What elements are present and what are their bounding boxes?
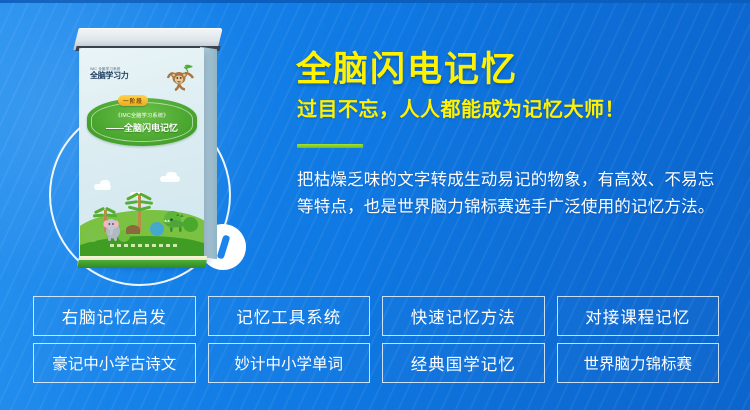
feature-tag[interactable]: 经典国学记忆 (382, 343, 545, 383)
brand-logo-text: 全脑学习力 (90, 72, 129, 80)
stage-label-pill: 一阶段 (118, 95, 148, 106)
feature-tag[interactable]: 妙计中小学单词 (208, 343, 371, 383)
bush-icon (126, 225, 140, 234)
cover-title-line: ——全脑闪电记忆 (80, 121, 204, 134)
promo-banner: IMC 全脑学习系统 全脑学习力 (0, 0, 750, 410)
box-front-cover: IMC 全脑学习系统 全脑学习力 (80, 48, 204, 262)
feature-tag[interactable]: 记忆工具系统 (208, 296, 371, 336)
elephant-icon (100, 216, 126, 242)
path-dashes (110, 244, 180, 247)
feature-tag[interactable]: 对接课程记忆 (557, 296, 720, 336)
divider (297, 144, 363, 148)
feature-tag-grid: 右脑记忆启发记忆工具系统快速记忆方法对接课程记忆豪记中小学古诗文妙计中小学单词经… (33, 296, 719, 383)
page-title: 全脑闪电记忆 (296, 52, 518, 87)
cloud-icon (166, 172, 177, 179)
brand-logo: IMC 全脑学习系统 全脑学习力 (90, 68, 129, 80)
description-text: 把枯燥乏味的文字转成生动易记的物象，有高效、不易忘等特点，也是世界脑力锦标赛选手… (297, 167, 717, 220)
palm-frond (125, 200, 138, 205)
feature-tag[interactable]: 豪记中小学古诗文 (33, 343, 196, 383)
palm-frond (140, 200, 153, 205)
box-bottom-band (77, 260, 207, 268)
product-box-image: IMC 全脑学习系统 全脑学习力 (68, 28, 228, 276)
top-accent-line (0, 0, 750, 3)
feature-tag[interactable]: 右脑记忆启发 (33, 296, 196, 336)
feature-tag[interactable]: 快速记忆方法 (382, 296, 545, 336)
cloud-icon (100, 180, 110, 187)
monkey-icon (165, 62, 199, 92)
feature-tag[interactable]: 世界脑力锦标赛 (557, 343, 720, 383)
page-subtitle: 过目不忘，人人都能成为记忆大师！ (297, 100, 625, 120)
cover-system-line: 《IMC全脑学习系统》 (80, 112, 204, 119)
cover-illustration (80, 170, 204, 262)
tree-icon (86, 229, 99, 242)
crocodile-icon (160, 212, 188, 234)
